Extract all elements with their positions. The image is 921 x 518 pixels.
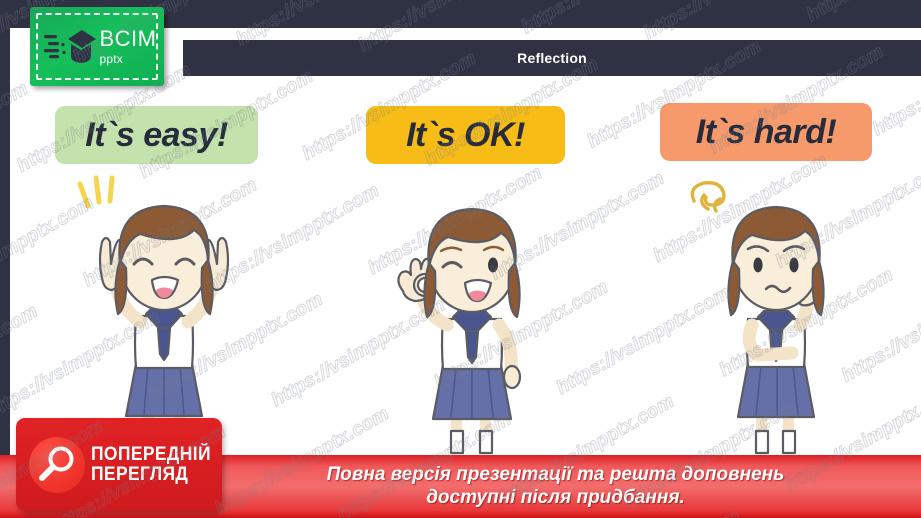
character-girl-ok-sign-winking bbox=[381, 173, 566, 458]
option-label-ok-text: It`s OK! bbox=[406, 116, 525, 155]
option-label-easy-text: It`s easy! bbox=[85, 116, 227, 155]
preview-badge-line-2: ПЕРЕГЛЯД bbox=[91, 465, 211, 484]
preview-badge-line-1: ПОПЕРЕДНІЙ bbox=[91, 445, 211, 464]
purchase-notice-line-2: доступні після придбання. bbox=[190, 487, 921, 509]
watermark-text: https://vsimpptx.com bbox=[803, 0, 921, 27]
page-title: Reflection bbox=[517, 50, 587, 66]
logo-main-text: BCIM bbox=[100, 28, 157, 50]
option-label-easy[interactable]: It`s easy! bbox=[55, 106, 258, 164]
slide-viewer: Reflection BCIM pptx bbox=[0, 0, 921, 518]
magnifying-glass-icon bbox=[29, 437, 85, 493]
character-girl-peace-sign-happy bbox=[66, 168, 266, 458]
graduation-cap-speed-icon bbox=[44, 26, 96, 68]
option-label-ok[interactable]: It`s OK! bbox=[366, 106, 565, 164]
option-label-hard[interactable]: It`s hard! bbox=[660, 103, 872, 161]
bcim-logo-badge: BCIM pptx bbox=[30, 7, 164, 86]
preview-badge: ПОПЕРЕДНІЙ ПЕРЕГЛЯД bbox=[16, 418, 222, 511]
character-girl-troubled-thinking bbox=[682, 173, 872, 458]
purchase-notice-line-1: Повна версія презентації та решта доповн… bbox=[190, 464, 921, 486]
slide-header-bar: Reflection bbox=[183, 40, 921, 76]
logo-sub-text: pptx bbox=[100, 53, 123, 65]
option-label-hard-text: It`s hard! bbox=[696, 113, 836, 152]
